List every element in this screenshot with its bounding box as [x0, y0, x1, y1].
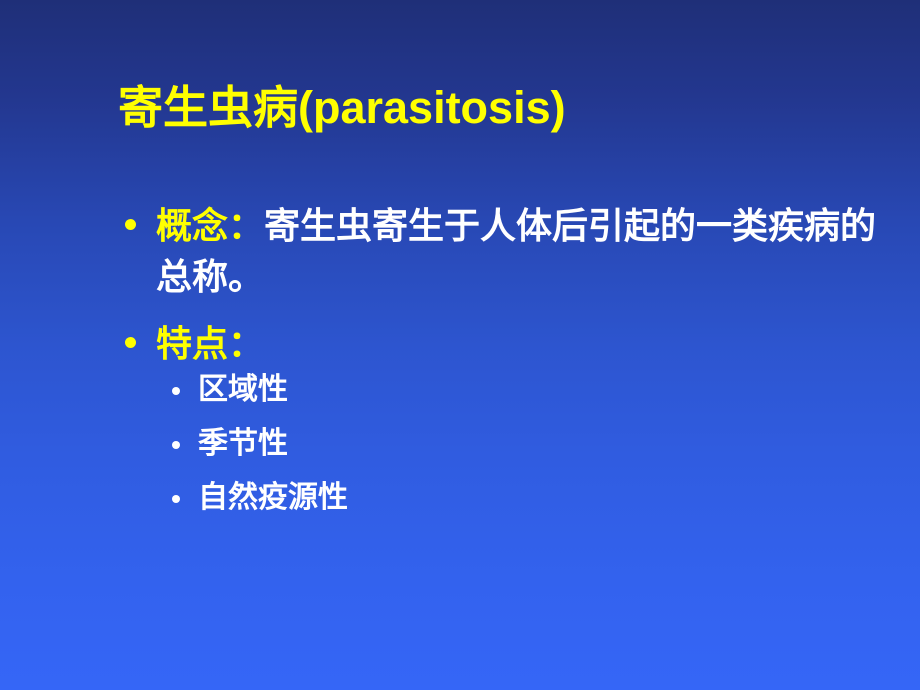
sub-bullet-item: 区域性	[164, 375, 908, 405]
slide-title: 寄生虫病(parasitosis)	[118, 84, 878, 133]
bullet-item-features: 特点：	[118, 318, 908, 369]
bullet-item-concept: 概念：寄生虫寄生于人体后引起的一类疾病的总称。	[118, 200, 908, 302]
sub-bullet-marker-icon	[172, 387, 180, 395]
sub-bullet-text-seasonality: 季节性	[198, 427, 288, 460]
bullet-marker-icon	[125, 219, 136, 230]
sub-bullet-text-natural-focality: 自然疫源性	[198, 481, 348, 514]
bullet-label-concept: 概念：	[156, 205, 264, 246]
sub-bullet-marker-icon	[172, 441, 180, 449]
bullet-text-concept: 寄生虫寄生于人体后引起的一类疾病的总称。	[156, 205, 876, 297]
slide-body: 概念：寄生虫寄生于人体后引起的一类疾病的总称。 特点： 区域性 季节性 自然疫源…	[118, 200, 908, 513]
sub-bullet-item: 季节性	[164, 429, 908, 459]
feature-sub-list: 区域性 季节性 自然疫源性	[118, 375, 908, 513]
sub-bullet-text-regionality: 区域性	[198, 373, 288, 406]
sub-bullet-item: 自然疫源性	[164, 483, 908, 513]
bullet-label-features: 特点：	[156, 323, 264, 364]
bullet-marker-icon	[125, 337, 136, 348]
sub-bullet-marker-icon	[172, 495, 180, 503]
presentation-slide: 寄生虫病(parasitosis) 概念：寄生虫寄生于人体后引起的一类疾病的总称…	[0, 0, 920, 690]
